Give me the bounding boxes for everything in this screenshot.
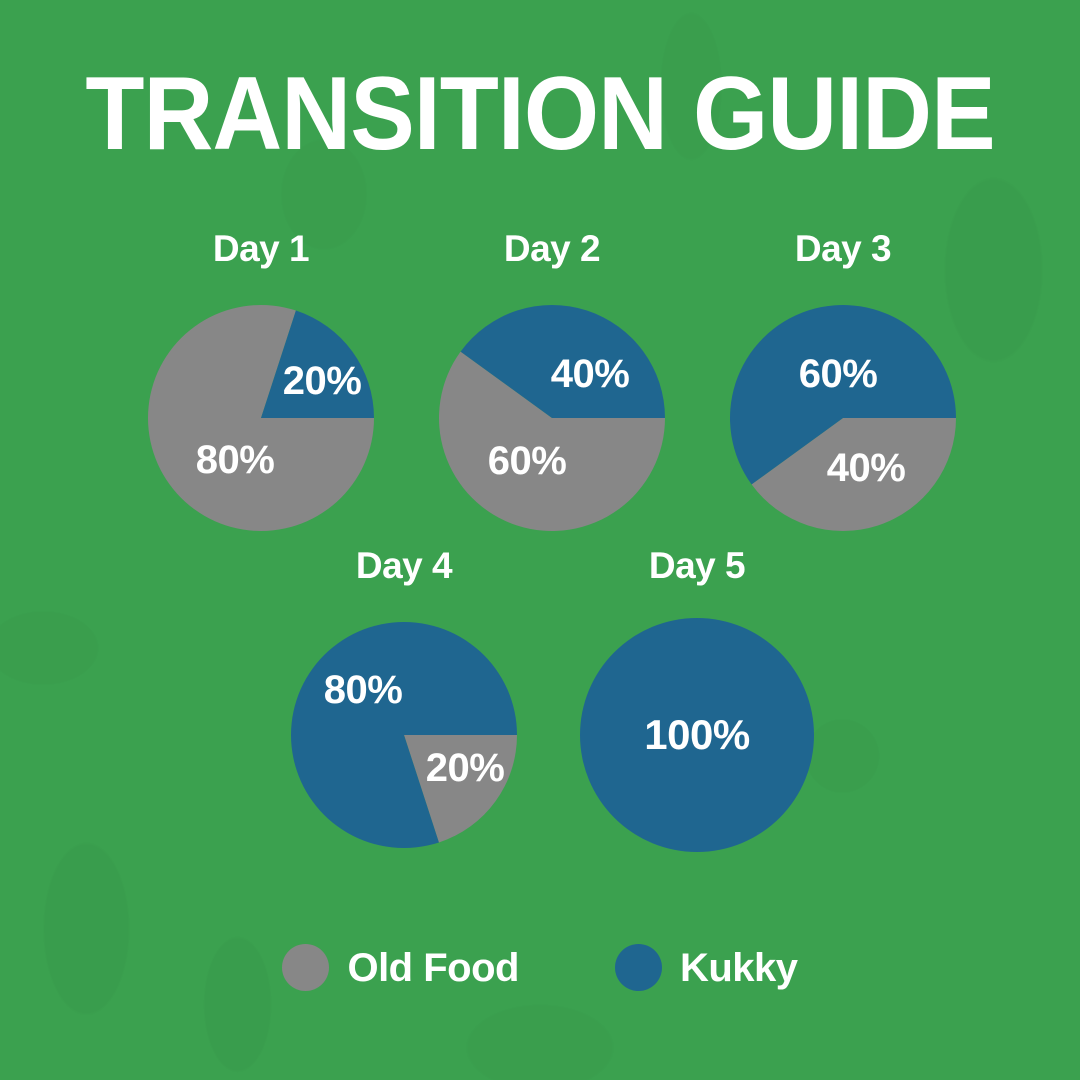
- legend-label: Kukky: [680, 948, 798, 988]
- legend-item-old-food: Old Food: [282, 944, 519, 991]
- pie-chart-day-label: Day 3: [693, 229, 993, 269]
- pie-chart-day-label: Day 1: [111, 229, 411, 269]
- legend-label: Old Food: [347, 948, 519, 988]
- pie-slice-value-label: 60%: [488, 441, 567, 481]
- legend-item-kukky: Kukky: [615, 944, 798, 991]
- pie-slice-value-label: 60%: [799, 354, 878, 394]
- pie-graphic: [148, 305, 374, 531]
- pie-chart-day-label: Day 2: [402, 229, 702, 269]
- page-title: TRANSITION GUIDE: [38, 62, 1042, 166]
- pie-chart-day-4: Day 4: [254, 546, 554, 854]
- pie-slice-value-label: 100%: [644, 715, 749, 755]
- pie-chart-day-1: Day 1: [111, 229, 411, 537]
- pie-slice-value-label: 80%: [196, 440, 275, 480]
- legend-dot-kukky: [615, 944, 662, 991]
- pie-graphic: [730, 305, 956, 531]
- pie-slice-value-label: 20%: [283, 361, 362, 401]
- legend: Old FoodKukky: [0, 944, 1080, 991]
- pie-graphic: [291, 622, 517, 848]
- pie-slice-value-label: 80%: [324, 670, 403, 710]
- pie-chart-day-label: Day 5: [547, 546, 847, 586]
- pie-chart-day-label: Day 4: [254, 546, 554, 586]
- pie-graphic: [439, 305, 665, 531]
- pie-slice-value-label: 40%: [551, 354, 630, 394]
- pie-chart-day-5: Day 5: [547, 546, 847, 858]
- legend-dot-old-food: [282, 944, 329, 991]
- pie-slice-value-label: 40%: [827, 448, 906, 488]
- infographic-canvas: TRANSITION GUIDE Day 1Day 2Day 3Day 4Day…: [0, 0, 1080, 1080]
- pie-slice-value-label: 20%: [426, 748, 505, 788]
